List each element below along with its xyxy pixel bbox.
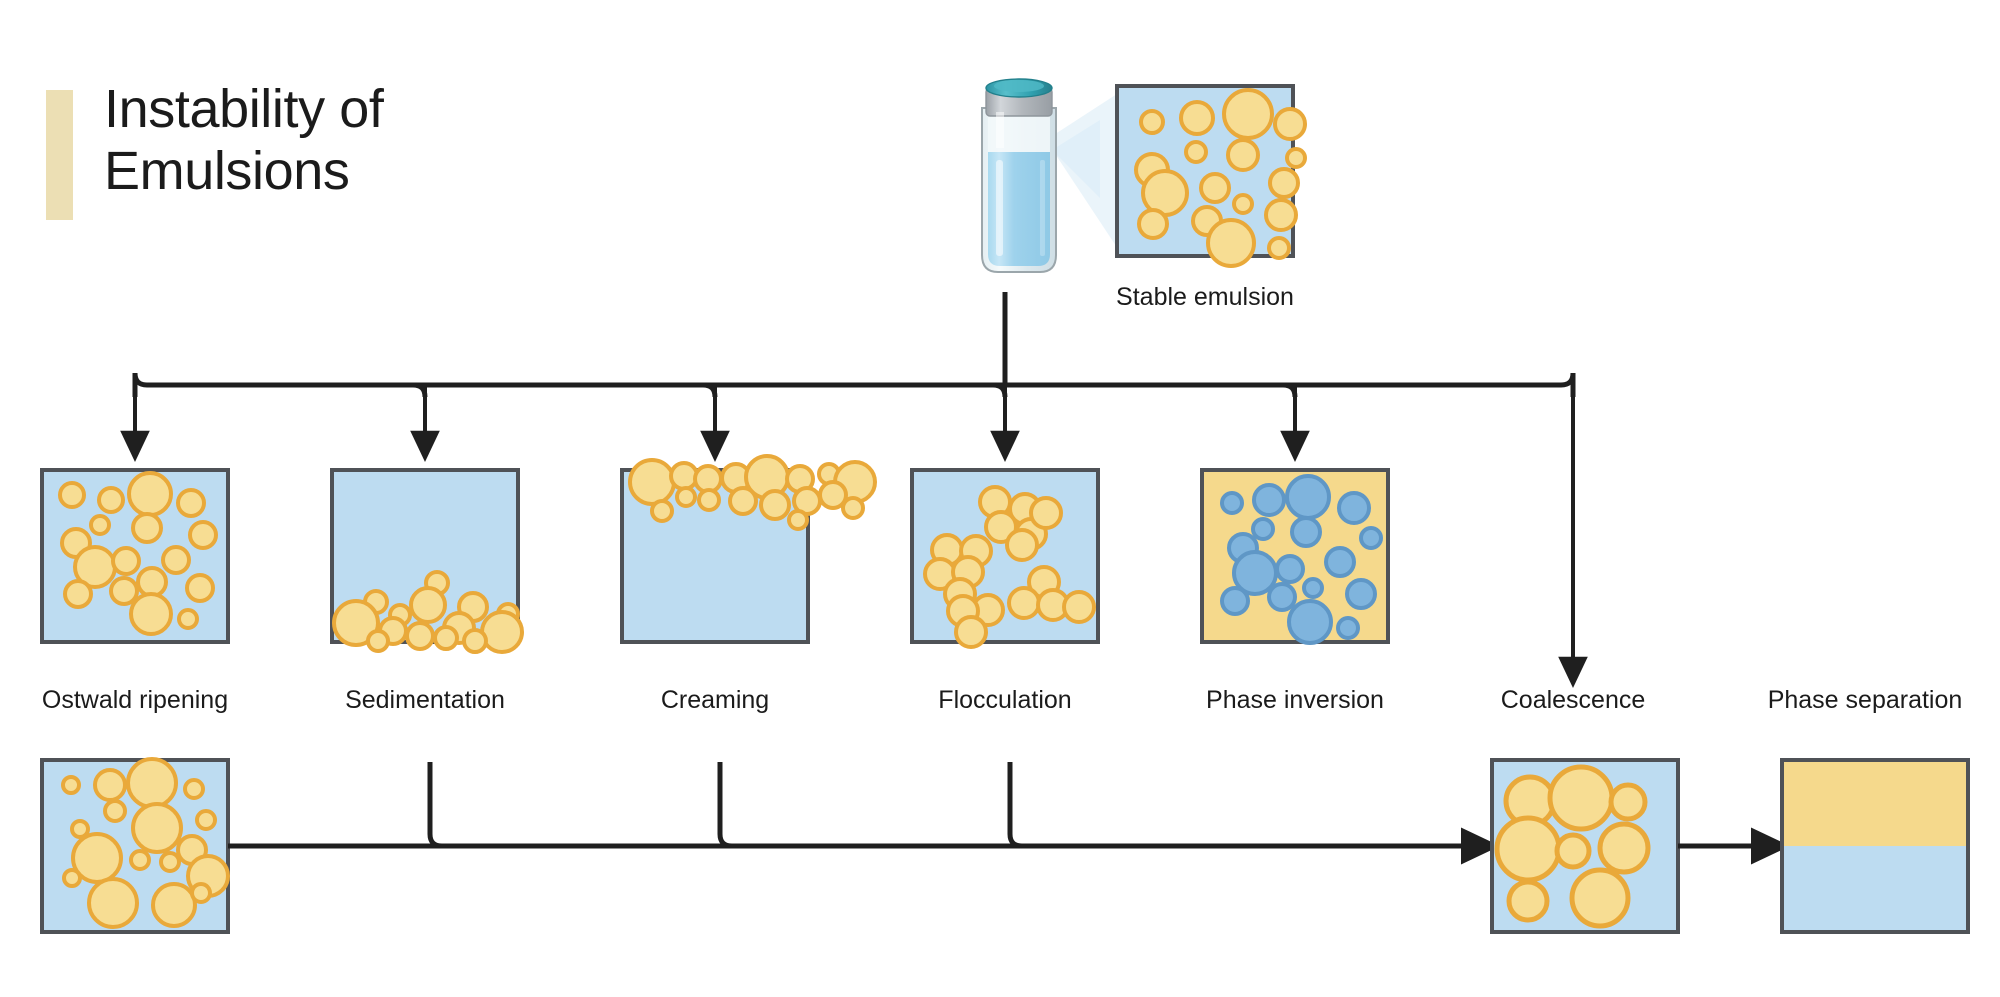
- node-sedimentation[interactable]: [332, 470, 522, 652]
- label-phase-inversion: Phase inversion: [1175, 686, 1415, 715]
- label-coalescence: Coalescence: [1453, 686, 1693, 715]
- droplet-group: [1497, 767, 1648, 926]
- node-pre-coalescence-emulsion[interactable]: [42, 759, 228, 932]
- label-flocculation: Flocculation: [885, 686, 1125, 715]
- node-flocculation[interactable]: [912, 470, 1098, 647]
- magnifier-beam-icon: [1046, 92, 1120, 252]
- top-connector-tree: [135, 292, 1573, 397]
- node-phase-inversion[interactable]: [1202, 470, 1388, 643]
- emulsion-instability-diagram: [0, 0, 2000, 997]
- diagram-canvas: Instability of Emulsions: [0, 0, 2000, 997]
- label-ostwald-ripening: Ostwald ripening: [15, 686, 255, 715]
- label-creaming: Creaming: [595, 686, 835, 715]
- label-sedimentation: Sedimentation: [305, 686, 545, 715]
- stable-emulsion-box: [1117, 86, 1305, 266]
- bottom-connector-bus: [228, 762, 1480, 846]
- node-creaming[interactable]: [622, 456, 875, 642]
- node-ostwald-ripening[interactable]: [42, 470, 228, 642]
- sample-vial-icon: [982, 79, 1056, 272]
- node-coalescence[interactable]: [1492, 760, 1678, 932]
- node-phase-separation[interactable]: [1782, 760, 1968, 932]
- label-stable-emulsion: Stable emulsion: [1085, 283, 1325, 312]
- label-phase-separation: Phase separation: [1745, 686, 1985, 715]
